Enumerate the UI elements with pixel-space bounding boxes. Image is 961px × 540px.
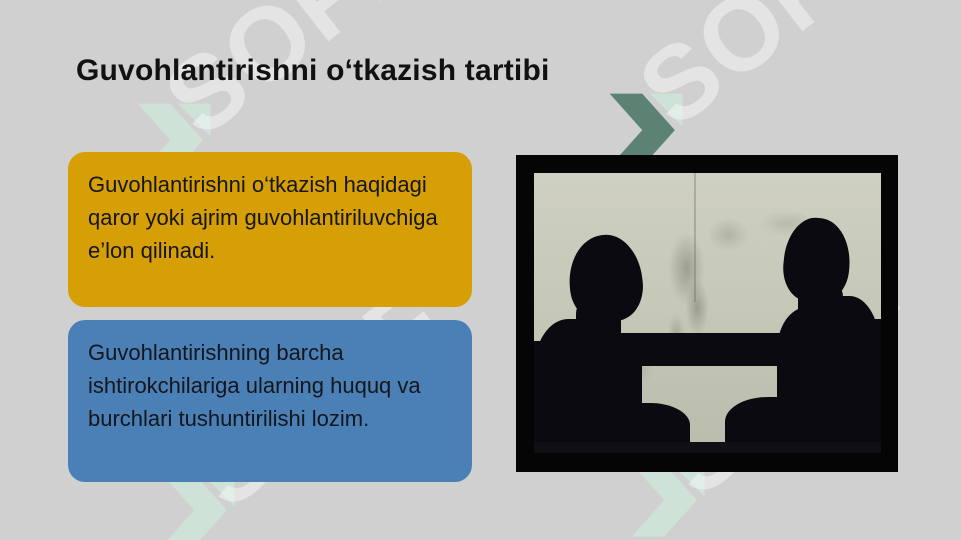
wall-seam xyxy=(694,173,696,302)
gold-callout-text: Guvohlantirishni o‘tkazish haqidagi qaro… xyxy=(88,168,450,267)
blue-callout-text: Guvohlantirishning barcha ishtirokchilar… xyxy=(88,336,450,435)
floor-shadow xyxy=(534,442,881,453)
photo-frame xyxy=(516,155,898,472)
watermark-text: SOFF xyxy=(618,0,916,150)
interrogation-photo xyxy=(534,173,881,453)
gold-callout-box: Guvohlantirishni o‘tkazish haqidagi qaro… xyxy=(68,152,472,307)
presentation-slide: Guvohlantirishni o‘tkazish tartibi Guvoh… xyxy=(0,0,961,540)
blue-callout-box: Guvohlantirishning barcha ishtirokchilar… xyxy=(68,320,472,482)
page-title: Guvohlantirishni o‘tkazish tartibi xyxy=(76,54,550,88)
table-silhouette xyxy=(596,333,825,367)
